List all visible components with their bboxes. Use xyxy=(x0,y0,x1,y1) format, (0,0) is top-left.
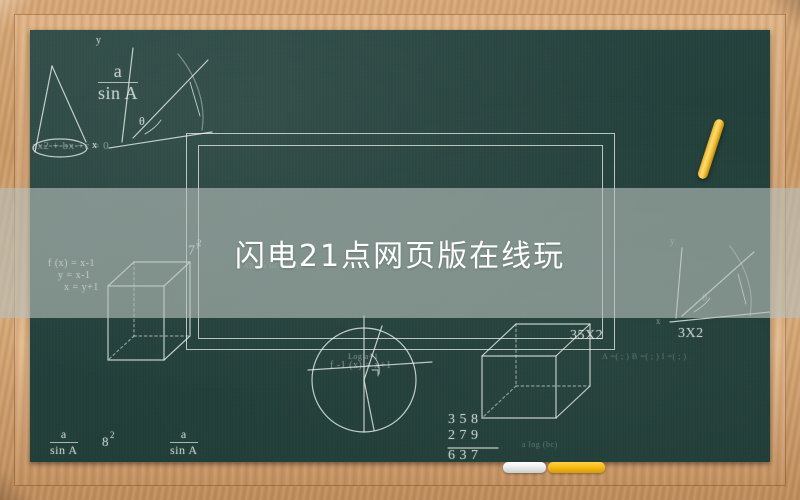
formula-log-identity: Log a=1 xyxy=(348,352,378,361)
label-axis-x-top-left: x xyxy=(92,140,98,151)
formula-law-of-sines-bottom-center: a sin A xyxy=(170,428,198,458)
label-theta-top-left: θ xyxy=(139,114,145,129)
formula-addition-row-2: 2 7 9 xyxy=(448,428,479,444)
formula-matrix-row: A =( ; ) B =( ; ) I =( ; ) xyxy=(602,352,687,361)
formula-addition-sum: 6 3 7 xyxy=(448,448,479,462)
formula-eight-squared: 8 xyxy=(102,434,109,450)
chalk-stick-yellow[interactable] xyxy=(548,462,605,473)
formula-multiply-35x2: 35X2 xyxy=(570,328,603,344)
formula-law-of-sines-top-left: a sin A xyxy=(98,62,138,104)
formula-eight-squared-exponent: 2 xyxy=(110,430,115,440)
formula-addition-row-1: 3 5 8 xyxy=(448,412,479,428)
caption-band: 闪电21点网页版在线玩 xyxy=(0,188,800,318)
formula-log-product: a log (bc) xyxy=(522,440,558,449)
formula-multiply-3x2: 3X2 xyxy=(678,326,704,342)
screenshot-root: a sin A ax2 + bx +c = 0 θ y x f (x) = x-… xyxy=(0,0,800,500)
formula-law-of-sines-bottom-left: a sin A xyxy=(50,428,78,458)
chalk-ledge xyxy=(30,462,770,474)
formula-inverse-function: f -1 (x) = x+1 xyxy=(330,360,392,371)
chalk-stick-white[interactable] xyxy=(503,462,546,473)
page-title: 闪电21点网页版在线玩 xyxy=(235,231,565,275)
label-axis-y-top-left: y xyxy=(96,35,102,46)
